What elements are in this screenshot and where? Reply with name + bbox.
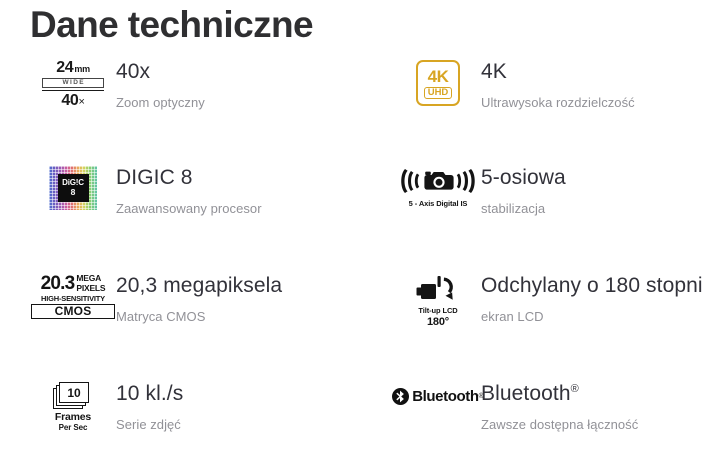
wide-zoom-focal: 24 (56, 60, 73, 76)
frames-per-second-icon: 10 Frames Per Sec (45, 382, 101, 432)
wide-zoom-icon: 24mm WIDE 40× (42, 60, 104, 109)
spec-subtitle: stabilizacja (481, 199, 566, 218)
text-cell: Odchylany o 180 stopni ekran LCD (481, 272, 703, 326)
4k-uhd-icon: 4K UHD (416, 60, 460, 106)
digic-8-icon: DiG!C 8 (49, 166, 97, 210)
cmos-badge: CMOS (31, 305, 115, 319)
spec-subtitle: Zaawansowany procesor (116, 199, 262, 218)
tilt-up-lcd-icon: Tilt-up LCD 180° (401, 274, 475, 328)
text-cell: 40x Zoom optyczny (116, 58, 205, 112)
digic-version: 8 (71, 188, 76, 197)
tilt-lcd-angle: 180° (401, 317, 475, 328)
fps-caption-persec: Per Sec (45, 424, 101, 432)
icon-cell: DiG!C 8 (30, 164, 116, 222)
text-cell: 20,3 megapiksela Matryca CMOS (116, 272, 282, 326)
spec-row: 24mm WIDE 40× 40x Zoom optyczny 4K U (0, 58, 724, 164)
page-title: Dane techniczne (30, 2, 313, 48)
icon-cell: 10 Frames Per Sec (30, 380, 116, 438)
spec-subtitle: ekran LCD (481, 307, 703, 326)
text-cell: DIGIC 8 Zaawansowany procesor (116, 164, 262, 218)
tilt-lcd-caption: Tilt-up LCD (401, 307, 475, 315)
text-cell: 4K Ultrawysoka rozdzielczość (481, 58, 635, 112)
uhd-badge: UHD (424, 87, 453, 100)
fps-caption-frames: Frames (45, 412, 101, 423)
spec-item-stabilization: 5 - Axis Digital IS 5-osiowa stabilizacj… (385, 164, 724, 272)
spec-title: 40x (116, 58, 205, 85)
spec-row: 20.3 MEGA PIXELS HIGH-SENSITIVITY CMOS 2… (0, 272, 724, 380)
spec-subtitle: Zoom optyczny (116, 93, 205, 112)
frame-front: 10 (59, 382, 89, 403)
spec-title: Odchylany o 180 stopni (481, 272, 703, 299)
wide-zoom-value-unit: × (79, 96, 85, 108)
frame-stack: 10 (53, 382, 93, 409)
digic-chip: DiG!C 8 (58, 174, 89, 202)
text-cell: 5-osiowa stabilizacja (481, 164, 566, 218)
spec-item-tilt-lcd: Tilt-up LCD 180° Odchylany o 180 stopni … (385, 272, 724, 380)
spec-title-registered-mark: ® (571, 383, 579, 395)
wide-zoom-badge: WIDE (42, 78, 104, 89)
wide-zoom-focal-unit: mm (74, 65, 89, 74)
wide-zoom-divider (42, 90, 104, 91)
icon-cell: 4K UHD (395, 58, 481, 116)
wide-zoom-value: 40 (61, 92, 78, 109)
bluetooth-icon: Bluetooth® (392, 388, 484, 405)
megapixels-unit-line1: MEGA (76, 273, 101, 283)
spec-subtitle: Zawsze dostępna łączność (481, 415, 638, 434)
spec-title: 4K (481, 58, 635, 85)
spec-title: 20,3 megapiksela (116, 272, 282, 299)
icon-cell: 20.3 MEGA PIXELS HIGH-SENSITIVITY CMOS (30, 272, 116, 330)
icon-cell: Bluetooth® (395, 380, 481, 444)
icon-cell: 24mm WIDE 40× (30, 58, 116, 116)
stabilization-caption: 5 - Axis Digital IS (395, 199, 481, 208)
spec-title: Bluetooth® (481, 380, 638, 407)
spec-row: DiG!C 8 DIGIC 8 Zaawansowany procesor (0, 164, 724, 272)
spec-item-bluetooth: Bluetooth® Bluetooth® Zawsze dostępna łą… (385, 380, 724, 460)
megapixels-value: 20.3 (41, 274, 75, 293)
icon-cell: Tilt-up LCD 180° (395, 272, 481, 330)
spec-title-text: Bluetooth (481, 382, 571, 405)
bluetooth-wordmark: Bluetooth (412, 388, 478, 405)
image-stabilization-icon: 5 - Axis Digital IS (395, 166, 481, 208)
spec-item-burst: 10 Frames Per Sec 10 kl./s Serie zdjęć (0, 380, 385, 460)
spec-item-megapixels: 20.3 MEGA PIXELS HIGH-SENSITIVITY CMOS 2… (0, 272, 385, 380)
icon-cell: 5 - Axis Digital IS (395, 164, 481, 222)
text-cell: 10 kl./s Serie zdjęć (116, 380, 183, 434)
spec-row: 10 Frames Per Sec 10 kl./s Serie zdjęć (0, 380, 724, 460)
spec-subtitle: Matryca CMOS (116, 307, 282, 326)
spec-subtitle: Serie zdjęć (116, 415, 183, 434)
megapixels-unit-line2: PIXELS (76, 283, 105, 293)
spec-subtitle: Ultrawysoka rozdzielczość (481, 93, 635, 112)
spec-item-digic: DiG!C 8 DIGIC 8 Zaawansowany procesor (0, 164, 385, 272)
spec-item-optical-zoom: 24mm WIDE 40× 40x Zoom optyczny (0, 58, 385, 164)
spec-title: DIGIC 8 (116, 164, 262, 191)
megapixels-cmos-icon: 20.3 MEGA PIXELS HIGH-SENSITIVITY CMOS (31, 274, 115, 319)
text-cell: Bluetooth® Zawsze dostępna łączność (481, 380, 638, 434)
spec-item-4k: 4K UHD 4K Ultrawysoka rozdzielczość (385, 58, 724, 164)
4k-label: 4K (428, 68, 449, 85)
bluetooth-rune-icon (392, 388, 409, 405)
spec-title: 10 kl./s (116, 380, 183, 407)
digic-brand: DiG!C (62, 179, 84, 187)
spec-grid: 24mm WIDE 40× 40x Zoom optyczny 4K U (0, 58, 724, 460)
spec-title: 5-osiowa (481, 164, 566, 191)
